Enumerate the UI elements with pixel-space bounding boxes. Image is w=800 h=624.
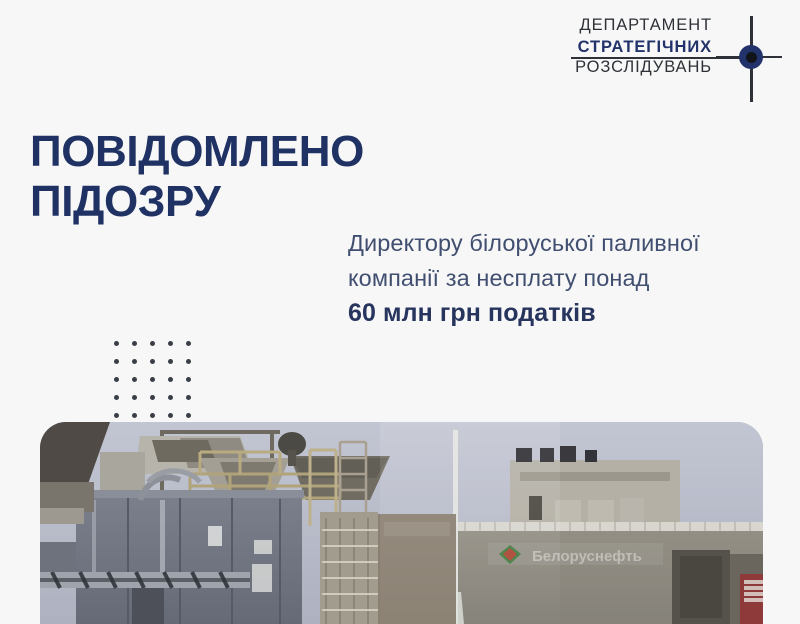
photo-industrial-site: Белоруснефть — [40, 422, 763, 624]
grid-dot — [132, 377, 137, 382]
grid-dot — [186, 413, 191, 418]
grid-dot — [168, 395, 173, 400]
grid-dot — [150, 359, 155, 364]
crosshair-center-dot — [746, 52, 757, 63]
brand-line-strategic: СТРАТЕГІЧНИХ — [575, 39, 712, 56]
grid-dot — [114, 359, 119, 364]
grid-dot — [186, 359, 191, 364]
grid-dot — [150, 395, 155, 400]
dot-grid-decoration — [114, 341, 204, 431]
subtitle-line-1: Директору білоруської паливної — [348, 226, 778, 261]
headline-line-2: ПІДОЗРУ — [30, 177, 364, 227]
grid-dot — [168, 377, 173, 382]
grid-dot — [168, 359, 173, 364]
brand-header: ДЕПАРТАМЕНТ СТРАТЕГІЧНИХ РОЗСЛІДУВАНЬ — [575, 14, 782, 104]
grid-dot — [132, 395, 137, 400]
grid-dot — [150, 413, 155, 418]
grid-dot — [114, 341, 119, 346]
brand-text: ДЕПАРТАМЕНТ СТРАТЕГІЧНИХ РОЗСЛІДУВАНЬ — [575, 14, 712, 76]
grid-dot — [132, 359, 137, 364]
grid-dot — [114, 413, 119, 418]
headline-line-1: ПОВІДОМЛЕНО — [30, 127, 364, 177]
grid-dot — [186, 341, 191, 346]
grid-dot — [168, 413, 173, 418]
crosshair-target-icon — [720, 14, 782, 104]
grid-dot — [132, 413, 137, 418]
grid-dot — [132, 341, 137, 346]
page-title: ПОВІДОМЛЕНО ПІДОЗРУ — [30, 127, 364, 227]
photo-illustration: Белоруснефть — [40, 422, 763, 624]
grid-dot — [114, 395, 119, 400]
grid-dot — [186, 377, 191, 382]
subtitle-amount: 60 млн грн податків — [348, 296, 778, 331]
brand-text-wrap: ДЕПАРТАМЕНТ СТРАТЕГІЧНИХ РОЗСЛІДУВАНЬ — [575, 14, 712, 76]
grid-dot — [150, 341, 155, 346]
grid-dot — [186, 395, 191, 400]
grid-dot — [114, 377, 119, 382]
grid-dot — [168, 341, 173, 346]
subtitle-block: Директору білоруської паливної компанії … — [348, 226, 778, 331]
grid-dot — [150, 377, 155, 382]
brand-line-department: ДЕПАРТАМЕНТ — [575, 17, 712, 34]
brand-line-investigations: РОЗСЛІДУВАНЬ — [575, 59, 712, 76]
subtitle-line-2: компанії за несплату понад — [348, 261, 778, 296]
